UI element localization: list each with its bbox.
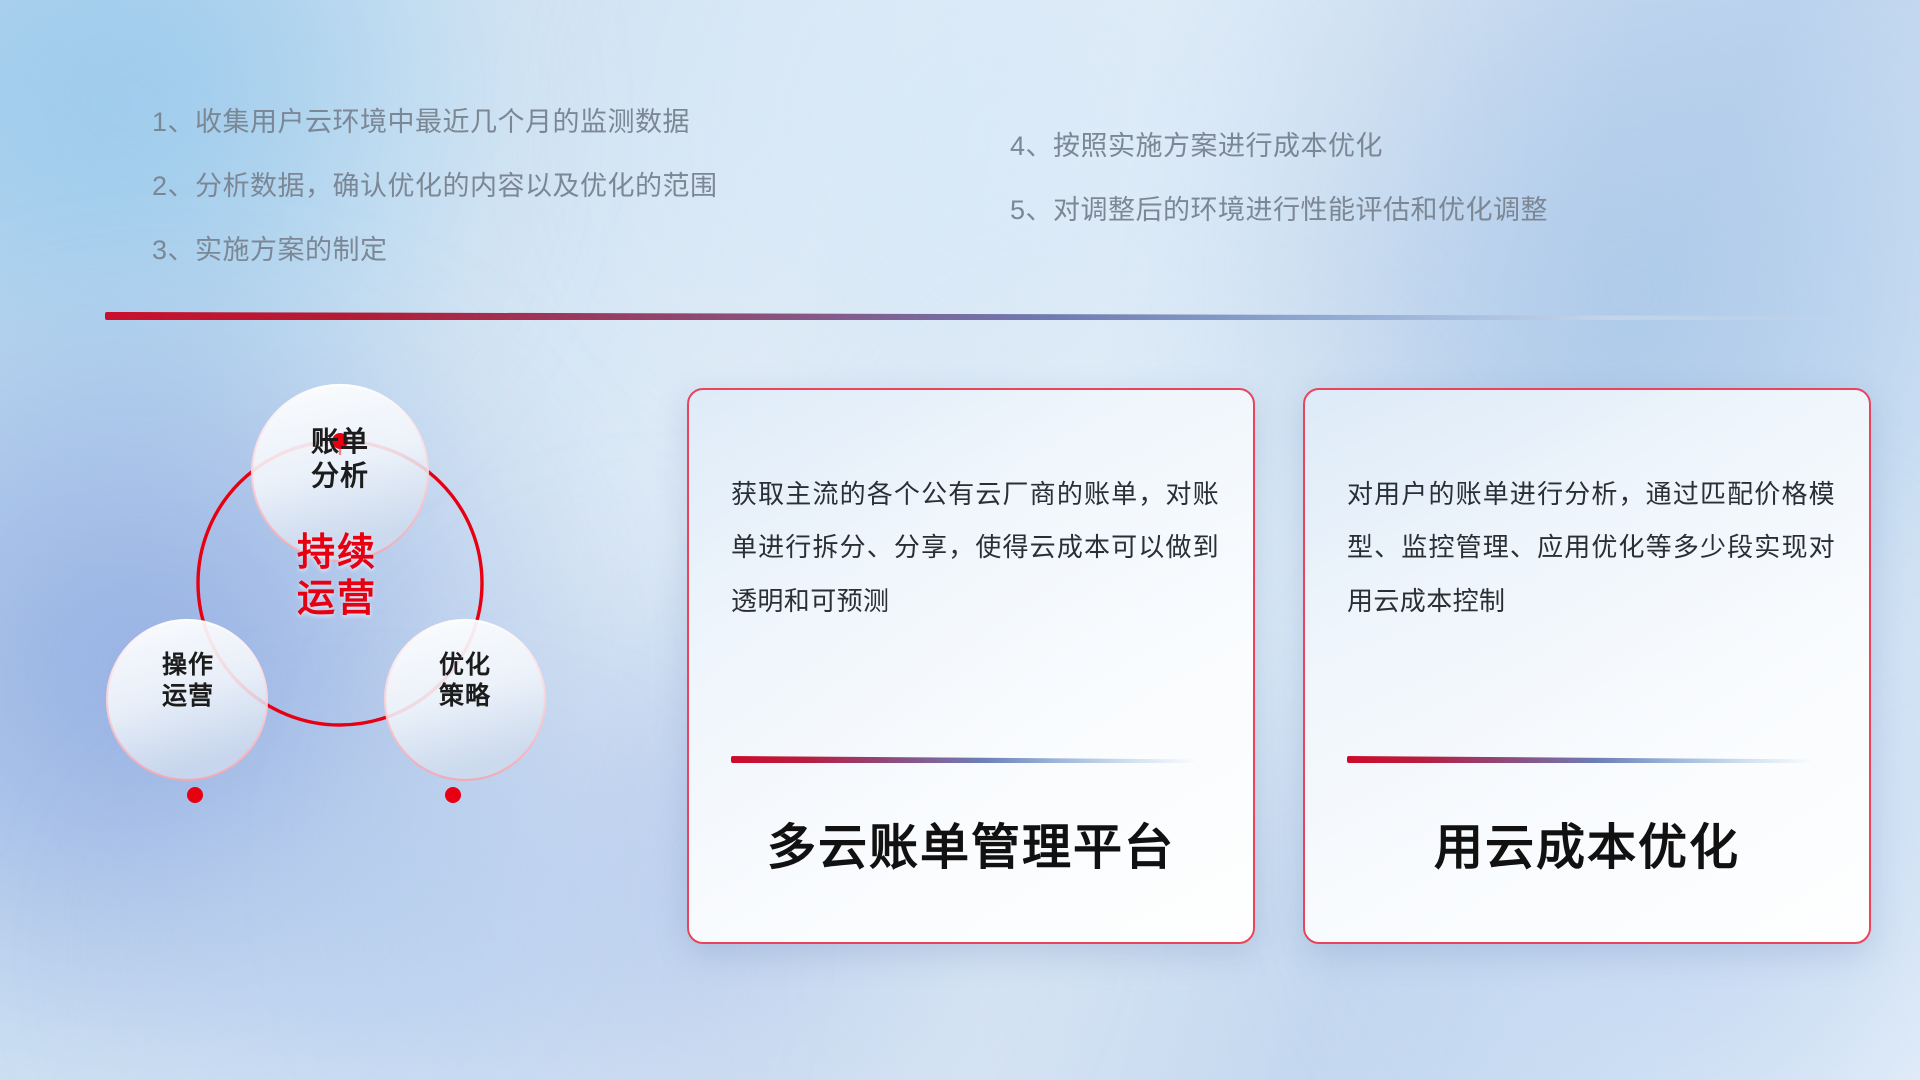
step-item-2: 2、分析数据，确认优化的内容以及优化的范围 xyxy=(152,164,718,203)
step-item-1: 1、收集用户云环境中最近几个月的监测数据 xyxy=(152,100,718,139)
card-1-body: 获取主流的各个公有云厂商的账单，对账单进行拆分、分享，使得云成本可以做到透明和可… xyxy=(731,468,1219,628)
card-multi-cloud-bill-platform[interactable]: 获取主流的各个公有云厂商的账单，对账单进行拆分、分享，使得云成本可以做到透明和可… xyxy=(687,388,1255,944)
continuous-operation-venn-diagram: 账单 分析 操作 运营 优化 策略 持续 运营 xyxy=(95,355,565,935)
section-divider xyxy=(105,312,1895,320)
venn-center-label: 持续 运营 xyxy=(237,530,437,623)
card-1-title: 多云账单管理平台 xyxy=(689,808,1253,879)
venn-node-operation-line2: 运营 xyxy=(103,681,273,712)
step-item-3: 3、实施方案的制定 xyxy=(152,228,718,267)
card-2-body: 对用户的账单进行分析，通过匹配价格模型、监控管理、应用优化等多少段实现对用云成本… xyxy=(1347,468,1835,628)
venn-node-policy: 优化 策略 xyxy=(380,650,550,711)
venn-node-policy-line1: 优化 xyxy=(380,650,550,681)
venn-center-label-line2: 运营 xyxy=(237,576,437,622)
venn-center-label-line1: 持续 xyxy=(237,530,437,576)
venn-node-bill-analysis: 账单 分析 xyxy=(255,425,425,493)
venn-node-bill-analysis-line1: 账单 xyxy=(255,425,425,459)
venn-node-policy-line2: 策略 xyxy=(380,681,550,712)
card-2-title: 用云成本优化 xyxy=(1305,808,1869,879)
card-cloud-cost-optimization[interactable]: 对用户的账单进行分析，通过匹配价格模型、监控管理、应用优化等多少段实现对用云成本… xyxy=(1303,388,1871,944)
venn-node-operation-line1: 操作 xyxy=(103,650,273,681)
connector-dot-left xyxy=(187,787,203,803)
connector-dot-right xyxy=(445,787,461,803)
card-1-separator xyxy=(731,756,1197,763)
step-item-4: 4、按照实施方案进行成本优化 xyxy=(1010,124,1548,163)
divider-bar xyxy=(105,312,1895,320)
card-2-separator xyxy=(1347,756,1813,763)
venn-node-bill-analysis-line2: 分析 xyxy=(255,459,425,493)
steps-list-left: 1、收集用户云环境中最近几个月的监测数据 2、分析数据，确认优化的内容以及优化的… xyxy=(152,100,718,292)
venn-node-operation: 操作 运营 xyxy=(103,650,273,711)
step-item-5: 5、对调整后的环境进行性能评估和优化调整 xyxy=(1010,188,1548,227)
steps-list-right: 4、按照实施方案进行成本优化 5、对调整后的环境进行性能评估和优化调整 xyxy=(1010,124,1548,252)
